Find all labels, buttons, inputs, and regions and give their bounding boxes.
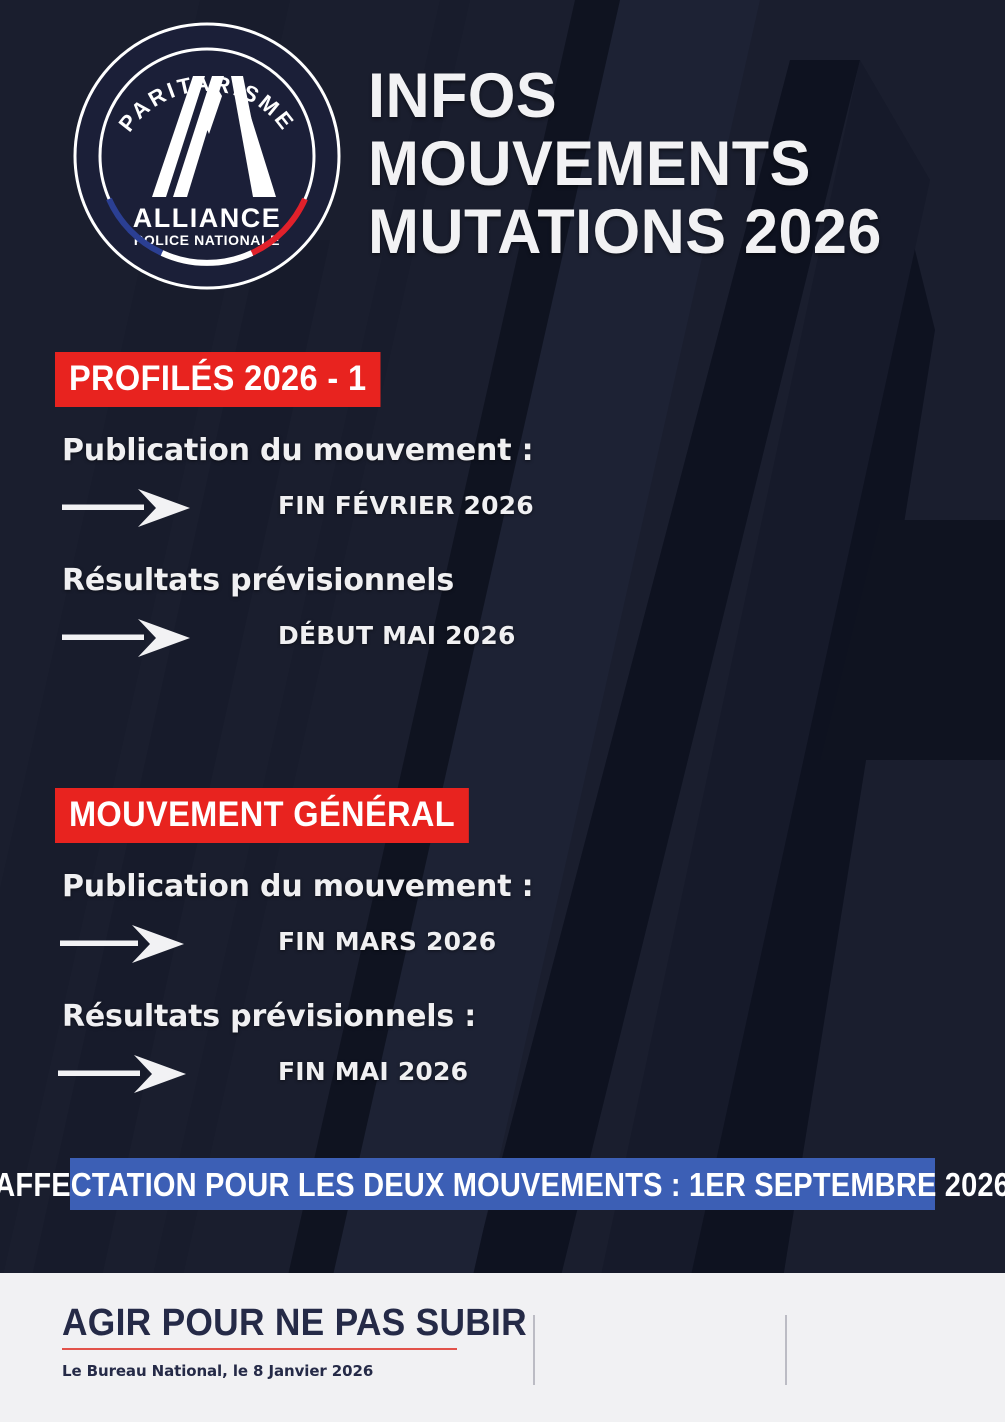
footer-slogan: AGIR POUR NE PAS SUBIR <box>62 1303 527 1343</box>
affectation-banner-text: AFFECTATION POUR LES DEUX MOUVEMENTS : 1… <box>0 1168 1005 1201</box>
section-badge-general: MOUVEMENT GÉNÉRAL <box>55 788 469 843</box>
value-resultats-profiles: DÉBUT MAI 2026 <box>278 621 516 651</box>
arrow-right-icon <box>60 923 186 965</box>
row-resultats-profiles: DÉBUT MAI 2026 <box>0 605 1005 667</box>
footer-divider-right <box>785 1315 787 1385</box>
label-publication-profiles: Publication du mouvement : <box>62 433 1005 469</box>
title-line-1: INFOS <box>368 62 950 130</box>
arrow-right-icon <box>58 1053 188 1095</box>
footer-divider-left <box>533 1315 535 1385</box>
arrow-right-icon <box>62 487 192 529</box>
title-line-3: MUTATIONS 2026 <box>368 198 950 266</box>
footer-slogan-block: AGIR POUR NE PAS SUBIR Le Bureau Nationa… <box>62 1303 562 1380</box>
poster-header: PARITARISME ALLIANCE POLICE NATIONALE <box>0 0 1005 310</box>
poster-footer: AGIR POUR NE PAS SUBIR Le Bureau Nationa… <box>0 1273 1005 1422</box>
value-publication-general: FIN MARS 2026 <box>278 927 496 957</box>
affectation-banner: AFFECTATION POUR LES DEUX MOUVEMENTS : 1… <box>70 1158 935 1210</box>
arrow-right-icon <box>62 617 192 659</box>
value-resultats-general: FIN MAI 2026 <box>278 1057 468 1087</box>
alliance-logo-svg: PARITARISME ALLIANCE POLICE NATIONALE <box>62 14 352 299</box>
logo-subtitle: POLICE NATIONALE <box>134 232 280 248</box>
row-publication-general: FIN MARS 2026 <box>0 911 1005 973</box>
row-resultats-general: FIN MAI 2026 <box>0 1041 1005 1103</box>
section-mouvement-general: MOUVEMENT GÉNÉRAL Publication du mouveme… <box>0 788 1005 1103</box>
logo-name: ALLIANCE <box>133 203 282 233</box>
row-publication-profiles: FIN FÉVRIER 2026 <box>0 475 1005 537</box>
section-badge-profiles: PROFILÉS 2026 - 1 <box>55 352 380 407</box>
poster: PARITARISME ALLIANCE POLICE NATIONALE <box>0 0 1005 1422</box>
section-profiles: PROFILÉS 2026 - 1 Publication du mouveme… <box>0 352 1005 667</box>
alliance-logo: PARITARISME ALLIANCE POLICE NATIONALE <box>62 14 352 299</box>
footer-slogan-rule <box>62 1348 457 1350</box>
footer-date: Le Bureau National, le 8 Janvier 2026 <box>62 1362 562 1380</box>
label-publication-general: Publication du mouvement : <box>62 869 1005 905</box>
title-line-2: MOUVEMENTS <box>368 130 950 198</box>
label-resultats-general: Résultats prévisionnels : <box>62 999 1005 1035</box>
poster-title: INFOS MOUVEMENTS MUTATIONS 2026 <box>368 62 968 266</box>
value-publication-profiles: FIN FÉVRIER 2026 <box>278 491 534 521</box>
label-resultats-profiles: Résultats prévisionnels <box>62 563 1005 599</box>
